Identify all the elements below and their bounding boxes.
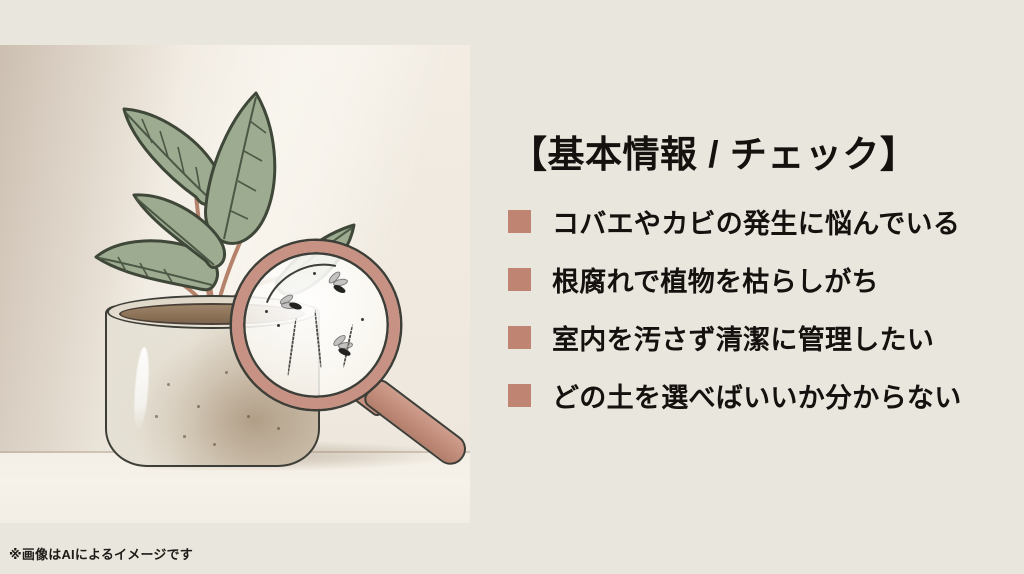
checklist-item-label: コバエやカビの発生に悩んでいる xyxy=(552,202,960,241)
checklist-item: コバエやカビの発生に悩んでいる xyxy=(508,204,1008,238)
content-column: 【基本情報 / チェック】 コバエやカビの発生に悩んでいる 根腐れで植物を枯らし… xyxy=(508,132,1008,436)
image-disclaimer: ※画像はAIによるイメージです xyxy=(9,544,193,563)
bullet-square-icon xyxy=(508,268,531,291)
magnifier-lens xyxy=(232,241,400,409)
bullet-square-icon xyxy=(508,210,531,233)
bullet-square-icon xyxy=(508,384,531,407)
slide-root: 【基本情報 / チェック】 コバエやカビの発生に悩んでいる 根腐れで植物を枯らし… xyxy=(0,0,1024,574)
checklist-item-label: どの土を選べばいいか分からない xyxy=(552,376,962,415)
checklist-item: 室内を汚さず清潔に管理したい xyxy=(508,320,1008,354)
checklist-item: 根腐れで植物を枯らしがち xyxy=(508,262,1008,296)
checklist-item: どの土を選べばいいか分からない xyxy=(508,378,1008,412)
checklist-item-label: 室内を汚さず清潔に管理したい xyxy=(552,318,934,357)
leaf xyxy=(206,93,275,243)
bullet-square-icon xyxy=(508,326,531,349)
leaf xyxy=(124,109,221,204)
illustration-panel xyxy=(0,45,470,523)
page-title: 【基本情報 / チェック】 xyxy=(510,132,1008,178)
checklist-item-label: 根腐れで植物を枯らしがち xyxy=(552,260,879,299)
